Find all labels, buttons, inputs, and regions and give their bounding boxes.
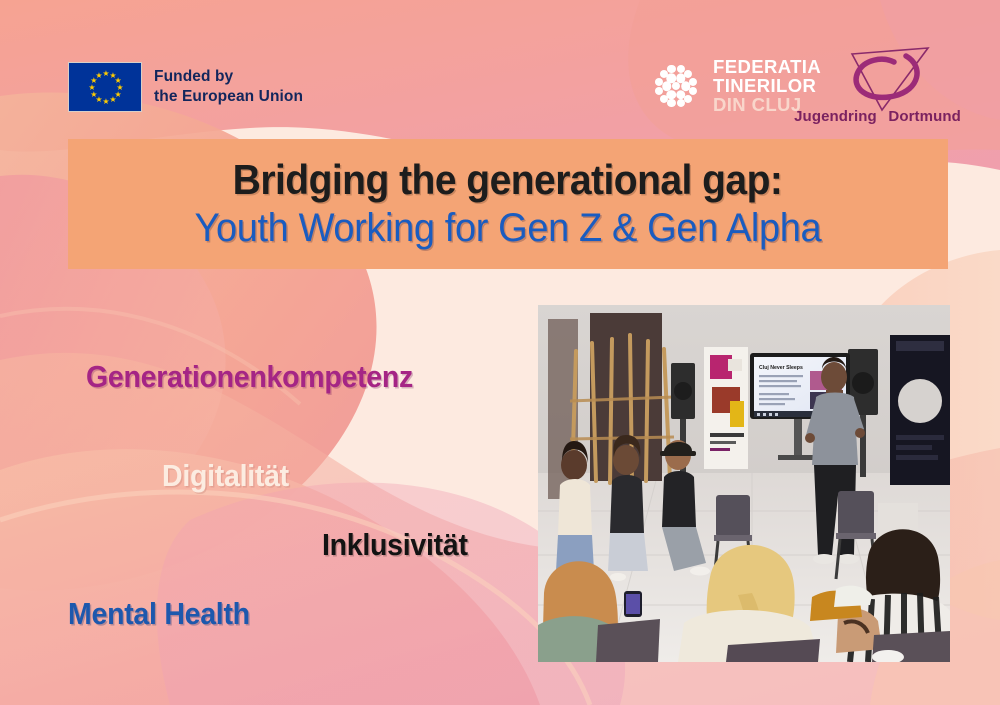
keyword-inklusivitaet: Inklusivität: [322, 527, 468, 563]
dot: [660, 95, 668, 103]
keyword-mental-health: Mental Health: [68, 596, 250, 632]
workshop-photo: Cluj Never Sleeps: [538, 305, 950, 662]
dot-flower-icon: [648, 58, 704, 114]
dot: [689, 78, 697, 86]
svg-text:Cluj Never Sleeps: Cluj Never Sleeps: [759, 365, 803, 371]
keyword-list: Generationenkompetenz Digitalität Inklus…: [0, 0, 538, 705]
keyword-digitalitaet: Digitalität: [162, 458, 289, 494]
dot: [667, 73, 677, 83]
dot: [667, 90, 677, 100]
jugendring-wordmark: Jugendring Dortmund: [790, 108, 965, 125]
dot: [667, 99, 675, 107]
poster-canvas: ★★★★★★★★★★★★ Funded by the European Unio…: [0, 0, 1000, 705]
dot: [662, 82, 672, 92]
dot: [667, 65, 675, 73]
dot: [684, 70, 692, 78]
dot: [676, 99, 684, 107]
dot: [684, 95, 692, 103]
triangle-swirl-icon: [832, 46, 942, 116]
dot: [689, 87, 697, 95]
jugendring-dortmund-logo: Jugendring Dortmund: [790, 46, 965, 131]
dot: [655, 87, 663, 95]
keyword-generationenkompetenz: Generationenkompetenz: [86, 359, 413, 395]
dot: [676, 65, 684, 73]
